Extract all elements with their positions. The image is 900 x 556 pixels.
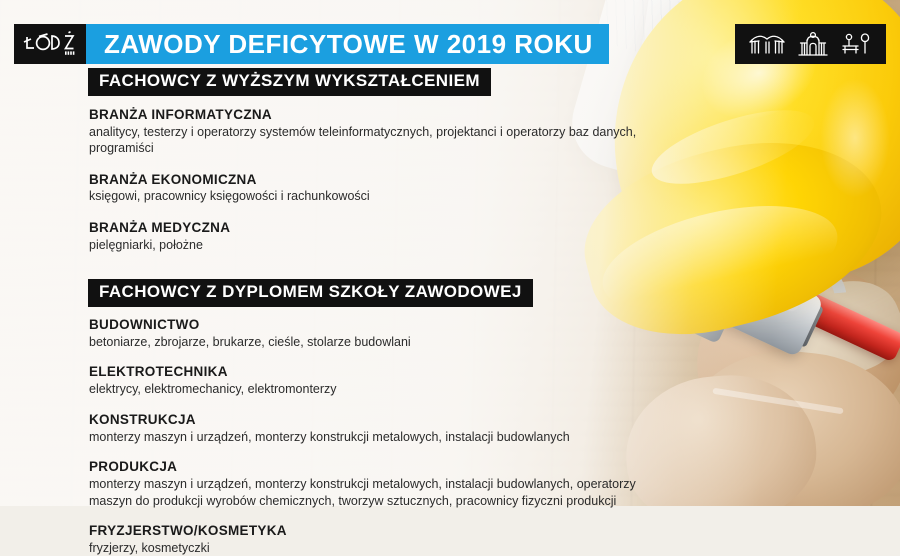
group-electrotechnics: ELEKTROTECHNIKA elektrycy, elektromechan… [89,364,700,397]
group-description: betoniarze, zbrojarze, brukarze, cieśle,… [89,334,689,351]
group-description: monterzy maszyn i urządzeń, monterzy kon… [89,476,679,509]
park-bench-tree-icon[interactable] [840,31,874,57]
group-title: BRANŻA MEDYCZNA [89,220,700,237]
group-description: elektrycy, elektromechanicy, elektromont… [89,381,689,398]
group-description: analitycy, testerzy i operatorzy systemó… [89,124,689,157]
group-construction: BUDOWNICTWO betoniarze, zbrojarze, bruka… [89,317,700,350]
title-banner: ZAWODY DEFICYTOWE W 2019 ROKU [86,24,609,64]
page-title: ZAWODY DEFICYTOWE W 2019 ROKU [104,31,593,57]
monument-icon-bar [735,24,886,64]
section-higher-education: FACHOWCY Z WYŻSZYM WYKSZTAŁCENIEM BRANŻA… [0,68,700,253]
group-title: BRANŻA INFORMATYCZNA [89,107,700,124]
group-title: KONSTRUKCJA [89,412,700,429]
group-description: monterzy maszyn i urządzeń, monterzy kon… [89,429,689,446]
group-description: pielęgniarki, położne [89,237,689,254]
group-title: FRYZJERSTWO/KOSMETYKA [89,523,700,540]
group-it: BRANŻA INFORMATYCZNA analitycy, testerzy… [89,107,700,157]
gate-arch-icon[interactable] [794,31,832,57]
section-vocational-diploma: FACHOWCY Z DYPLOMEM SZKOŁY ZAWODOWEJ BUD… [0,279,700,556]
group-production: PRODUKCJA monterzy maszyn i urządzeń, mo… [89,459,700,509]
group-title: PRODUKCJA [89,459,700,476]
group-title: BRANŻA EKONOMICZNA [89,172,700,189]
lodz-city-logo[interactable] [14,24,86,64]
section-heading: FACHOWCY Z WYŻSZYM WYKSZTAŁCENIEM [88,68,491,96]
section-heading: FACHOWCY Z DYPLOMEM SZKOŁY ZAWODOWEJ [88,279,533,307]
group-economics: BRANŻA EKONOMICZNA księgowi, pracownicy … [89,172,700,205]
header-bar: ZAWODY DEFICYTOWE W 2019 ROKU [14,24,609,64]
group-hairdressing-cosmetics: FRYZJERSTWO/KOSMETYKA fryzjerzy, kosmety… [89,523,700,556]
group-title: ELEKTROTECHNIKA [89,364,700,381]
group-structures: KONSTRUKCJA monterzy maszyn i urządzeń, … [89,412,700,445]
group-title: BUDOWNICTWO [89,317,700,334]
group-description: księgowi, pracownicy księgowości i rachu… [89,188,689,205]
group-medical: BRANŻA MEDYCZNA pielęgniarki, położne [89,220,700,253]
palm-colonnade-icon[interactable] [747,33,787,55]
content-column: FACHOWCY Z WYŻSZYM WYKSZTAŁCENIEM BRANŻA… [0,68,700,556]
group-description: fryzjerzy, kosmetyczki [89,540,689,556]
